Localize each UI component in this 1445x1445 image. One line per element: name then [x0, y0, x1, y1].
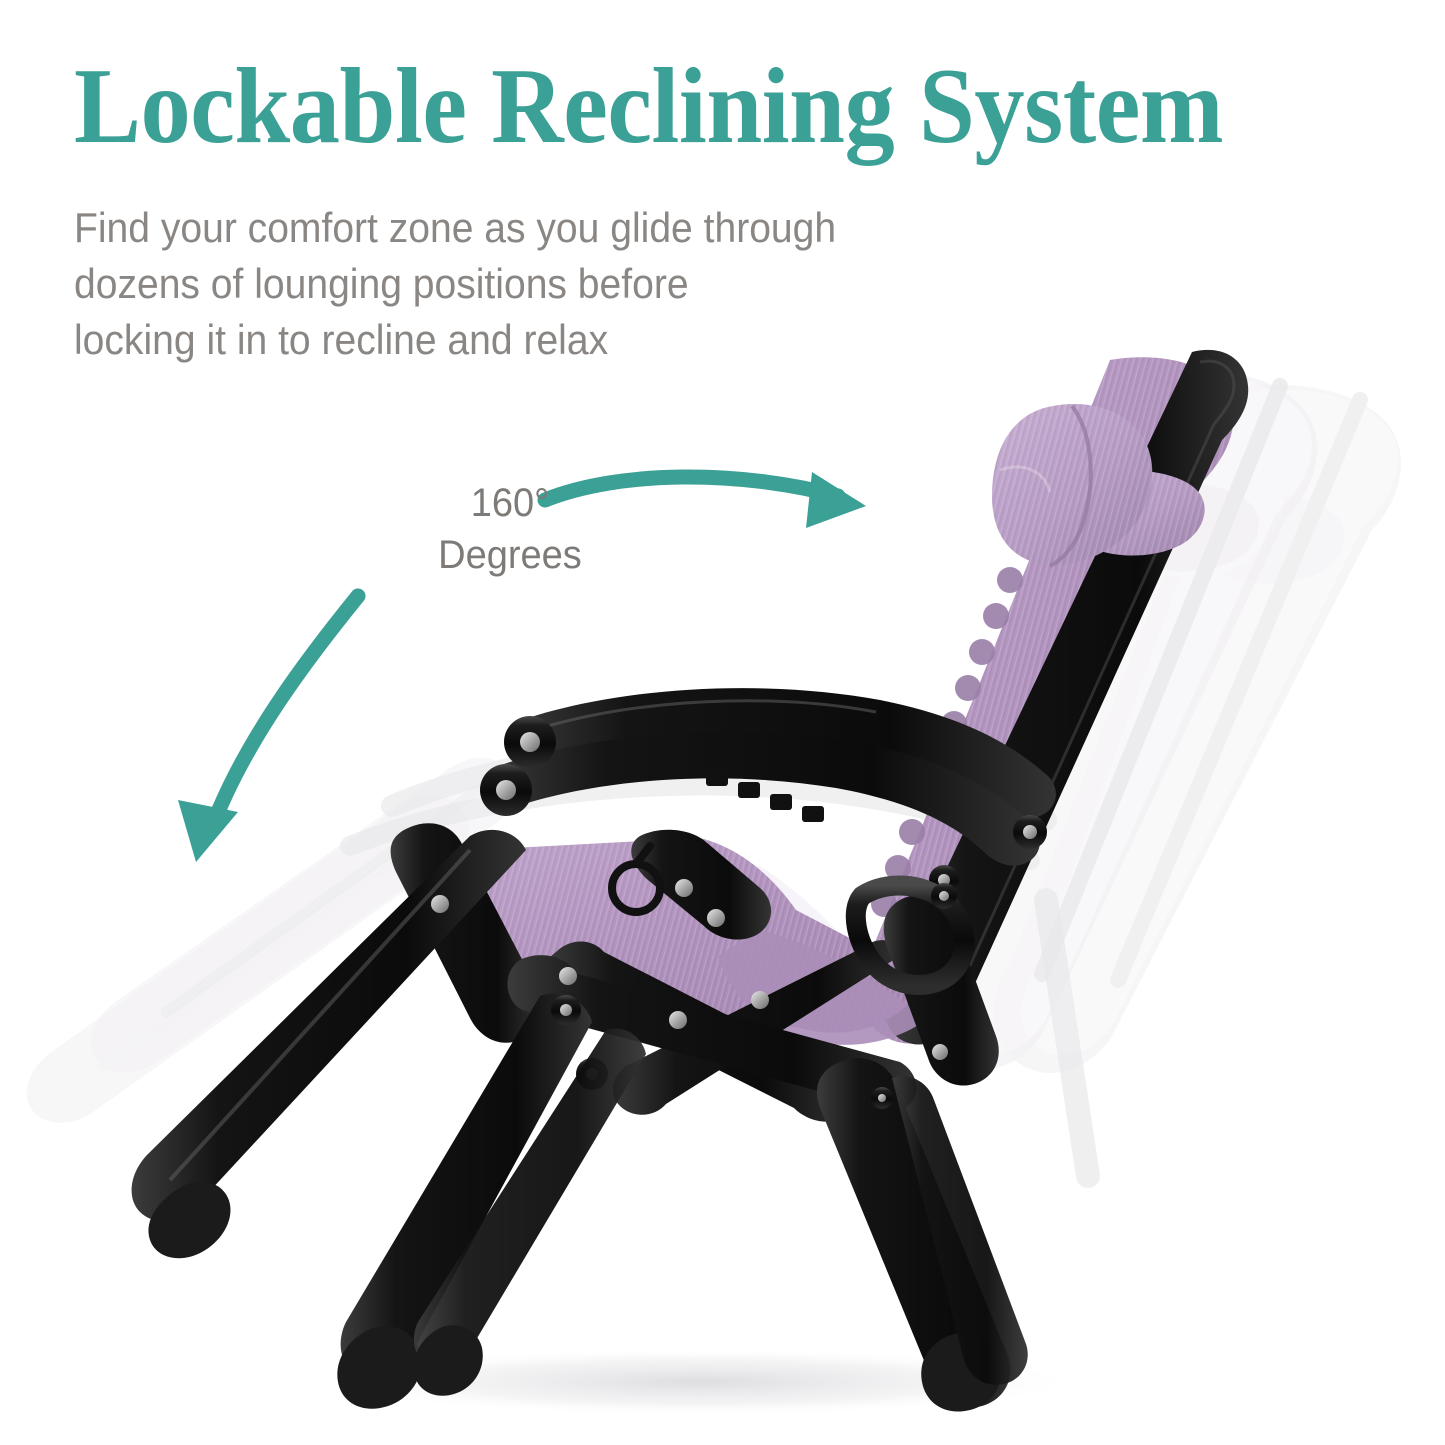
- recline-forward-arrow: [178, 596, 358, 862]
- page-subtitle: Find your comfort zone as you glide thro…: [74, 200, 1004, 368]
- page-title: Lockable Reclining System: [74, 52, 1302, 162]
- product-feature-graphic: Lockable Reclining System Find your comf…: [0, 0, 1445, 1445]
- angle-unit: Degrees: [387, 529, 634, 581]
- angle-callout: 160° Degrees: [387, 477, 634, 581]
- angle-value: 160°: [387, 477, 634, 529]
